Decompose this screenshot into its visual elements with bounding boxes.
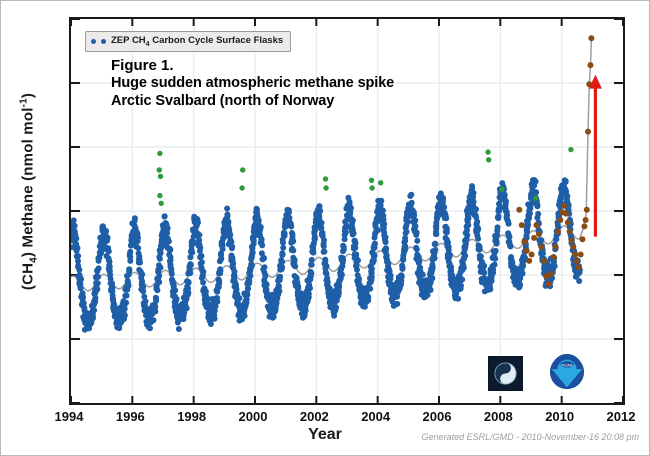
data-point <box>516 207 522 213</box>
data-point <box>365 294 371 300</box>
data-point <box>567 229 573 235</box>
esrl-logo <box>488 356 523 391</box>
spike-arrow-annotation <box>589 75 602 237</box>
data-point <box>572 252 578 258</box>
data-point <box>166 238 172 244</box>
data-point <box>132 215 138 221</box>
data-point <box>402 235 408 241</box>
data-point <box>91 307 97 313</box>
series-outlier-points <box>157 147 574 206</box>
data-point <box>474 219 480 225</box>
data-point <box>135 245 141 251</box>
data-point <box>124 293 130 299</box>
data-point <box>348 205 354 211</box>
data-point <box>200 269 206 275</box>
data-point <box>563 211 569 217</box>
x-axis-tick-label: 2004 <box>346 409 406 424</box>
data-point <box>475 225 481 231</box>
data-point <box>521 239 527 245</box>
data-point <box>578 252 584 258</box>
data-point <box>158 265 164 271</box>
data-point <box>369 178 374 183</box>
data-point <box>92 299 98 305</box>
data-point <box>399 274 405 280</box>
data-point <box>286 209 292 215</box>
data-point <box>189 249 195 255</box>
data-point <box>157 151 162 156</box>
figure-number: Figure 1. <box>111 57 394 75</box>
data-point <box>413 223 419 229</box>
data-point <box>471 199 477 205</box>
data-point <box>432 255 438 261</box>
data-point <box>143 298 149 304</box>
data-point <box>254 207 260 213</box>
data-point <box>323 176 328 181</box>
data-point <box>230 260 236 266</box>
data-point <box>218 256 224 262</box>
data-point <box>581 223 587 229</box>
data-point <box>465 222 471 228</box>
data-point <box>78 276 84 282</box>
data-point <box>320 230 326 236</box>
data-point <box>490 270 496 276</box>
data-point <box>455 296 461 302</box>
data-point <box>310 247 316 253</box>
data-point <box>534 222 540 228</box>
data-point <box>259 236 265 242</box>
data-point <box>280 245 286 251</box>
data-point <box>408 192 414 198</box>
data-point <box>381 221 387 227</box>
data-point <box>447 252 453 258</box>
data-point <box>250 250 256 256</box>
data-point <box>352 245 358 251</box>
data-point <box>504 212 510 218</box>
data-point <box>196 232 202 238</box>
data-point <box>492 256 498 262</box>
data-point <box>466 215 472 221</box>
data-point <box>336 284 342 290</box>
data-point <box>478 253 484 259</box>
data-point <box>156 279 162 285</box>
data-point <box>441 204 447 210</box>
generated-footer: Generated ESRL/GMD - 2010-November-16 20… <box>422 432 639 442</box>
data-point <box>122 312 128 318</box>
data-point <box>432 241 438 247</box>
data-point <box>147 325 153 331</box>
data-point <box>372 253 378 259</box>
data-point <box>565 220 571 226</box>
data-point <box>312 234 318 240</box>
data-point <box>216 280 222 286</box>
data-point <box>157 193 162 198</box>
data-point <box>200 280 206 286</box>
data-point <box>555 229 561 235</box>
data-point <box>433 226 439 232</box>
data-point <box>127 258 133 264</box>
arrow-head <box>589 75 602 89</box>
data-point <box>486 157 491 162</box>
x-axis-tick-label: 2012 <box>591 409 650 424</box>
data-point <box>494 232 500 238</box>
data-point <box>383 245 389 251</box>
data-point <box>383 234 389 240</box>
data-point <box>378 180 383 185</box>
data-point <box>168 266 174 272</box>
data-point <box>318 225 324 231</box>
data-point <box>394 301 400 307</box>
data-point <box>292 257 298 263</box>
data-point <box>105 235 111 241</box>
data-point <box>172 287 178 293</box>
data-point <box>126 283 132 289</box>
data-point <box>309 257 315 263</box>
data-point <box>103 228 109 234</box>
data-point <box>281 232 287 238</box>
data-point <box>154 287 160 293</box>
data-point <box>333 305 339 311</box>
data-point <box>473 206 479 212</box>
data-point <box>563 179 569 185</box>
data-point <box>471 190 477 196</box>
data-point <box>351 230 357 236</box>
data-point <box>378 198 384 204</box>
data-point <box>552 263 558 269</box>
data-point <box>340 257 346 263</box>
data-point <box>414 246 420 252</box>
data-point <box>341 244 347 250</box>
figure-container: (CH4) Methane (nmol mol-1) 1750180018501… <box>0 0 650 456</box>
data-point <box>443 215 449 221</box>
data-point <box>527 211 533 217</box>
data-point <box>199 253 205 259</box>
data-point <box>240 167 245 172</box>
data-point <box>585 129 591 135</box>
data-point <box>242 313 248 319</box>
data-point <box>107 268 113 274</box>
data-point <box>248 273 254 279</box>
data-point <box>429 275 435 281</box>
data-point <box>90 315 96 321</box>
data-point <box>72 223 78 229</box>
data-point <box>481 270 487 276</box>
data-point <box>461 265 467 271</box>
data-point <box>324 263 330 269</box>
data-point <box>212 316 218 322</box>
legend-marker-dot-2 <box>101 39 106 44</box>
data-point <box>307 285 313 291</box>
data-point <box>553 244 559 250</box>
data-point <box>262 273 268 279</box>
data-point <box>123 300 129 306</box>
data-point <box>157 256 163 262</box>
data-point <box>531 235 537 241</box>
data-point <box>306 294 312 300</box>
x-axis-tick-label: 2006 <box>407 409 467 424</box>
data-point <box>186 279 192 285</box>
data-point <box>174 296 180 302</box>
data-point <box>420 272 426 278</box>
data-point <box>588 62 594 68</box>
data-point <box>74 245 80 251</box>
data-point <box>481 263 487 269</box>
data-point <box>139 271 145 277</box>
data-point <box>290 238 296 244</box>
legend-marker-dot-1 <box>91 39 96 44</box>
data-point <box>151 317 157 323</box>
x-axis-tick-label: 1998 <box>162 409 222 424</box>
data-point <box>492 262 498 268</box>
data-point <box>110 285 116 291</box>
data-point <box>290 248 296 254</box>
data-point <box>433 231 439 237</box>
chart-legend: ZEP CH4 Carbon Cycle Surface Flasks <box>85 31 291 52</box>
data-point <box>233 286 239 292</box>
data-point <box>203 289 209 295</box>
data-point <box>342 236 348 242</box>
data-point <box>295 285 301 291</box>
data-point <box>440 196 446 202</box>
data-point <box>264 282 270 288</box>
data-point <box>73 236 79 242</box>
data-point <box>506 234 512 240</box>
data-point <box>469 183 475 189</box>
data-point <box>557 217 563 223</box>
data-point <box>411 212 417 218</box>
svg-text:NOAA: NOAA <box>561 362 573 367</box>
data-point <box>158 174 163 179</box>
data-point <box>414 238 420 244</box>
data-point <box>425 292 431 298</box>
data-point <box>152 304 158 310</box>
data-point <box>229 245 235 251</box>
data-point <box>503 198 509 204</box>
data-point <box>76 267 82 273</box>
data-point <box>96 265 102 271</box>
data-point <box>517 282 523 288</box>
data-point <box>245 286 251 292</box>
data-point <box>355 257 361 263</box>
data-point <box>459 277 465 283</box>
data-point <box>369 185 374 190</box>
data-point <box>553 236 559 242</box>
data-point <box>122 306 128 312</box>
data-point <box>477 246 483 252</box>
data-point <box>95 274 101 280</box>
data-point <box>529 252 535 258</box>
series-recent-points <box>516 35 594 287</box>
data-point <box>524 229 530 235</box>
data-point <box>261 255 267 261</box>
data-point <box>71 217 77 223</box>
series-main-points <box>71 177 583 333</box>
data-point <box>580 236 586 242</box>
data-point <box>167 247 173 253</box>
data-point <box>485 149 490 154</box>
data-point <box>499 187 504 192</box>
data-point <box>588 35 594 41</box>
data-point <box>432 247 438 253</box>
data-point <box>506 221 512 227</box>
data-point <box>444 226 450 232</box>
data-point <box>276 288 282 294</box>
data-point <box>140 284 146 290</box>
data-point <box>95 280 101 286</box>
x-axis-tick-label: 1994 <box>39 409 99 424</box>
data-point <box>538 244 544 250</box>
data-point <box>354 267 360 273</box>
data-point <box>94 286 100 292</box>
data-point <box>199 259 205 265</box>
data-point <box>277 274 283 280</box>
data-point <box>350 217 356 223</box>
data-point <box>458 286 464 292</box>
data-point <box>541 258 547 264</box>
data-point <box>388 276 394 282</box>
data-point <box>321 237 327 243</box>
data-point <box>475 236 481 242</box>
data-point <box>156 273 162 279</box>
data-point <box>162 213 168 219</box>
data-point <box>487 284 493 290</box>
data-point <box>540 250 546 256</box>
data-point <box>225 213 231 219</box>
data-point <box>569 237 575 243</box>
data-point <box>279 259 285 265</box>
data-point <box>533 179 539 185</box>
data-point <box>356 276 362 282</box>
data-point <box>184 305 190 311</box>
data-point <box>568 147 573 152</box>
data-point <box>106 248 112 254</box>
y-axis-label: (CH4) Methane (nmol mol-1) <box>19 12 40 372</box>
data-point <box>226 227 232 233</box>
data-point <box>561 203 567 209</box>
data-point <box>508 243 514 249</box>
data-point <box>464 232 470 238</box>
data-point <box>323 185 328 190</box>
x-axis-tick-label: 2010 <box>530 409 590 424</box>
data-point <box>218 268 224 274</box>
data-point <box>570 244 576 250</box>
data-point <box>185 290 191 296</box>
data-point <box>303 308 309 314</box>
data-point <box>414 230 420 236</box>
data-point <box>321 243 327 249</box>
figure-subtitle-line-2: Arctic Svalbard (north of Norway <box>111 93 394 111</box>
data-point <box>159 201 164 206</box>
data-point <box>244 300 250 306</box>
data-point <box>574 258 580 264</box>
data-point <box>214 299 220 305</box>
data-point <box>258 224 264 230</box>
data-point <box>416 258 422 264</box>
noaa-logo: NOAA <box>548 353 586 391</box>
data-point <box>280 240 286 246</box>
data-point <box>180 316 186 322</box>
data-point <box>400 264 406 270</box>
data-point <box>195 220 201 226</box>
data-point <box>308 270 314 276</box>
data-point <box>538 237 544 243</box>
data-point <box>535 211 541 217</box>
data-point <box>405 219 411 225</box>
data-point <box>251 241 257 247</box>
data-point <box>534 202 540 208</box>
data-point <box>494 241 500 247</box>
data-point <box>372 241 378 247</box>
data-point <box>380 208 386 214</box>
data-point <box>279 250 285 256</box>
data-point <box>495 215 501 221</box>
data-point <box>533 189 539 195</box>
data-point <box>428 287 434 293</box>
data-point <box>196 237 202 243</box>
x-axis-tick-label: 1996 <box>100 409 160 424</box>
data-point <box>402 243 408 249</box>
data-point <box>292 263 298 269</box>
data-point <box>279 266 285 272</box>
x-axis-tick-label: 2002 <box>284 409 344 424</box>
data-point <box>375 227 381 233</box>
data-point <box>225 219 231 225</box>
data-point <box>176 326 182 332</box>
data-point <box>495 224 501 230</box>
data-point <box>536 231 542 237</box>
data-point <box>256 217 262 223</box>
data-point <box>339 271 345 277</box>
data-point <box>262 264 268 270</box>
data-point <box>317 208 323 214</box>
figure-subtitle-line-1: Huge sudden atmospheric methane spike <box>111 75 394 93</box>
data-point <box>126 268 132 274</box>
data-point <box>311 241 317 247</box>
data-point <box>288 224 294 230</box>
data-point <box>187 270 193 276</box>
data-point <box>231 272 237 278</box>
figure-caption: Figure 1. Huge sudden atmospheric methan… <box>111 57 394 111</box>
data-point <box>520 263 526 269</box>
data-point <box>448 267 454 273</box>
legend-label: ZEP CH4 Carbon Cycle Surface Flasks <box>111 35 283 48</box>
data-point <box>584 207 590 213</box>
data-point <box>157 167 162 172</box>
data-point <box>153 295 159 301</box>
data-point <box>237 295 243 301</box>
data-point <box>548 271 554 277</box>
data-point <box>321 249 327 255</box>
data-point <box>462 253 468 259</box>
x-axis-tick-label: 2008 <box>468 409 528 424</box>
data-point <box>533 196 538 201</box>
data-point <box>259 242 265 248</box>
data-point <box>135 235 141 241</box>
data-point <box>165 225 171 231</box>
data-point <box>520 271 526 277</box>
data-point <box>409 200 415 206</box>
data-point <box>546 281 552 287</box>
data-point <box>127 249 133 255</box>
data-point <box>493 248 499 254</box>
data-point <box>169 271 175 277</box>
data-point <box>367 286 373 292</box>
data-point <box>208 321 214 327</box>
data-point <box>412 218 418 224</box>
data-point <box>524 248 530 254</box>
data-point <box>583 217 589 223</box>
data-point <box>576 278 582 284</box>
data-point <box>239 185 244 190</box>
